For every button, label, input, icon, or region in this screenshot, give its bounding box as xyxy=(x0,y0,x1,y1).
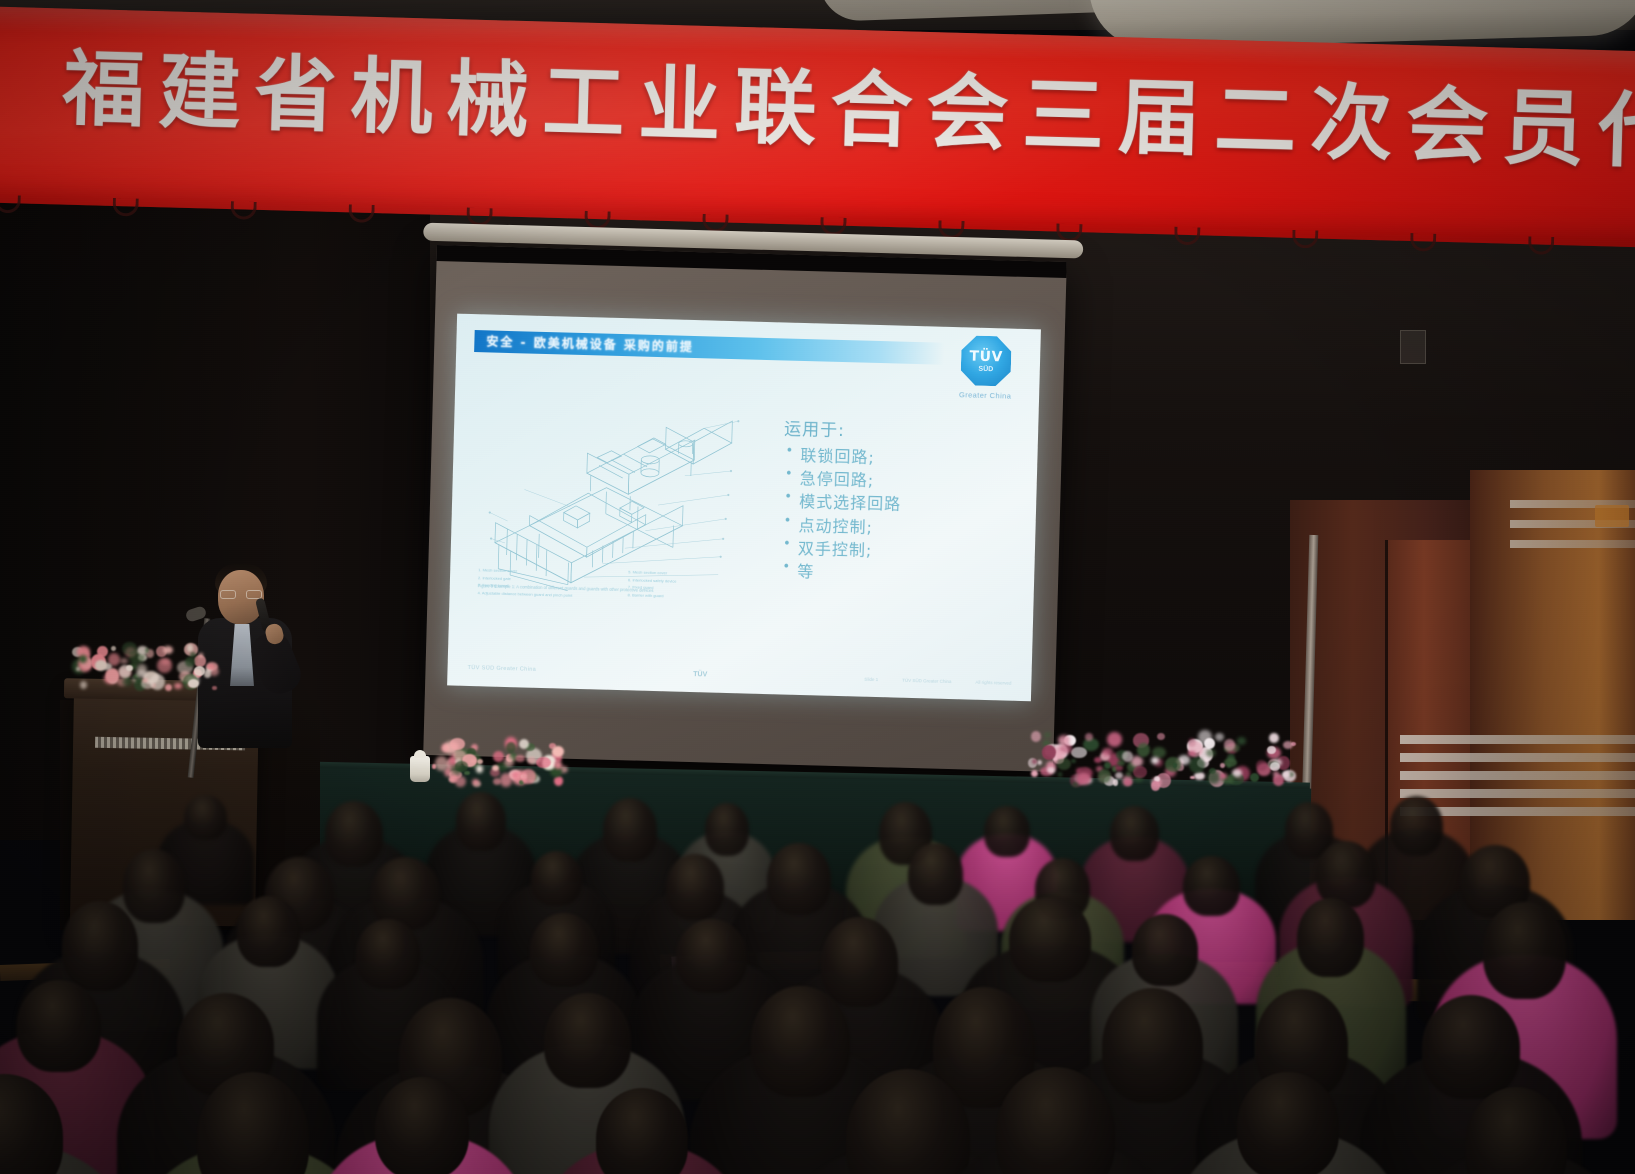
slide-footer-meta: All rights reserved xyxy=(975,679,1011,685)
flower-blossom xyxy=(1220,763,1225,768)
banner-hook xyxy=(230,201,256,220)
glasses-icon xyxy=(220,590,262,599)
banner-hook xyxy=(348,204,374,223)
flower-blossom xyxy=(1209,768,1216,774)
flower-blossom xyxy=(212,686,216,690)
audience-head xyxy=(356,919,419,988)
flower-blossom xyxy=(1031,770,1039,777)
flower-arrangement-stage-left xyxy=(428,736,568,788)
flower-blossom xyxy=(519,739,529,749)
audience-head xyxy=(1390,796,1443,857)
banner-hook xyxy=(1292,230,1318,249)
conference-banner: 福建省机械工业联合会三届二次会员代表大会 xyxy=(0,6,1635,248)
flower-blossom xyxy=(1122,751,1133,762)
audience-head xyxy=(544,993,631,1089)
projected-slide: 安全 - 欧美机械设备 采购的前提 TÜV SÜD Greater China xyxy=(447,314,1041,702)
flower-blossom xyxy=(1215,733,1223,741)
flower-blossom xyxy=(1282,771,1290,778)
flower-blossom xyxy=(1115,772,1123,779)
flower-blossom xyxy=(1157,733,1165,740)
flower-blossom xyxy=(476,765,483,772)
flower-blossom xyxy=(464,771,469,776)
flower-blossom xyxy=(1059,739,1067,746)
flower-blossom xyxy=(493,751,504,762)
slide-footer-brand: TÜV xyxy=(693,671,707,678)
conference-hall-photo: 福建省机械工业联合会三届二次会员代表大会 安全 - 欧美机械设备 采购的前提 T… xyxy=(0,0,1635,1174)
slide-footer: TÜV SÜD Greater China TÜV Slide 1 TÜV SÜ… xyxy=(447,659,1031,691)
flower-blossom xyxy=(455,776,465,787)
audience-head xyxy=(62,901,138,990)
audience-head xyxy=(1132,914,1197,986)
flower-blossom xyxy=(442,745,449,752)
audience-head xyxy=(123,849,186,923)
audience-head xyxy=(984,806,1029,857)
audience-head xyxy=(705,803,749,856)
flower-blossom xyxy=(1256,760,1267,771)
flower-blossom xyxy=(1194,772,1205,780)
audience-head xyxy=(375,1077,470,1174)
flower-blossom xyxy=(1117,760,1125,766)
banner-hook xyxy=(0,195,21,214)
flower-blossom xyxy=(79,655,87,663)
flower-blossom xyxy=(1058,772,1062,777)
flower-blossom xyxy=(111,646,117,652)
flower-blossom xyxy=(1042,745,1056,760)
flower-blossom xyxy=(1037,760,1042,765)
flower-blossom xyxy=(80,681,87,689)
slide-footer-left: TÜV SÜD Greater China xyxy=(467,665,536,673)
teacup-stage xyxy=(410,756,430,782)
flower-blossom xyxy=(1032,759,1037,764)
flower-blossom xyxy=(506,742,516,753)
audience-head xyxy=(325,801,383,866)
flower-blossom xyxy=(122,678,133,686)
flower-blossom xyxy=(1031,731,1041,742)
banner-hook xyxy=(1528,236,1554,255)
audience-head xyxy=(1422,995,1521,1100)
slide-title: 安全 - 欧美机械设备 采购的前提 xyxy=(486,332,694,355)
flower-blossom xyxy=(1224,739,1236,751)
audience-head xyxy=(603,798,657,862)
audience-head xyxy=(767,843,830,916)
flower-blossom xyxy=(187,644,194,651)
flower-blossom xyxy=(95,660,107,670)
flower-blossom xyxy=(1250,773,1259,782)
slide-bullet-block: 运用于: 联锁回路; 急停回路; 模式选择回路 点动控制; 双手控制; 等 xyxy=(780,414,1014,588)
flower-blossom xyxy=(1190,776,1194,779)
tuv-sud-logo: TÜV SÜD Greater China xyxy=(957,335,1015,400)
flower-blossom xyxy=(119,665,131,678)
flower-blossom xyxy=(1269,733,1278,743)
audience-head xyxy=(184,795,227,840)
flower-blossom xyxy=(157,658,172,673)
flower-blossom xyxy=(1131,756,1143,767)
flower-blossom xyxy=(515,755,524,763)
audience-head xyxy=(666,854,723,921)
audience-head xyxy=(237,896,300,967)
flower-blossom xyxy=(1267,746,1275,754)
flower-blossom xyxy=(504,756,515,768)
audience-head xyxy=(1237,1072,1339,1174)
slide-footer-meta: Slide 1 xyxy=(864,676,878,681)
projection-screen: 安全 - 欧美机械设备 采购的前提 TÜV SÜD Greater China xyxy=(423,245,1067,772)
flower-blossom xyxy=(1133,766,1146,778)
flower-blossom xyxy=(1126,772,1131,776)
tuv-octagon-icon: TÜV SÜD xyxy=(960,335,1011,386)
flower-blossom xyxy=(1044,732,1051,738)
flower-blossom xyxy=(120,658,128,664)
flower-blossom xyxy=(1098,769,1111,782)
flower-blossom xyxy=(142,678,148,683)
flower-blossom xyxy=(1107,732,1122,747)
audience-head xyxy=(1483,902,1566,999)
audience-seating xyxy=(0,790,1635,1174)
flower-blossom xyxy=(165,684,172,690)
audience-head xyxy=(530,913,598,987)
flower-blossom xyxy=(122,642,137,655)
flower-blossom xyxy=(1085,733,1093,740)
audience-head xyxy=(676,919,747,993)
flower-blossom xyxy=(204,670,211,677)
audience-head xyxy=(821,917,898,1007)
audience-head xyxy=(751,986,850,1096)
flower-blossom xyxy=(1071,747,1086,758)
wall-light-fixture xyxy=(1595,505,1629,527)
flower-blossom xyxy=(174,683,182,689)
flower-blossom xyxy=(527,757,536,764)
flower-blossom xyxy=(1151,757,1159,764)
flower-blossom xyxy=(554,776,563,785)
flower-blossom xyxy=(1283,741,1293,749)
flower-blossom xyxy=(1189,757,1205,773)
audience-head xyxy=(1009,897,1091,983)
slide-title-bar: 安全 - 欧美机械设备 采购的前提 xyxy=(474,330,944,365)
audience-head xyxy=(531,851,583,906)
slide-bullet-list: 联锁回路; 急停回路; 模式选择回路 点动控制; 双手控制; 等 xyxy=(780,443,1014,588)
slide-footer-right: Slide 1 TÜV SÜD Greater China All rights… xyxy=(864,676,1011,685)
flower-blossom xyxy=(185,657,195,668)
audience-head xyxy=(1102,988,1203,1103)
flower-blossom xyxy=(188,679,200,689)
flower-blossom xyxy=(199,653,203,658)
flower-blossom xyxy=(521,769,536,784)
flower-arrangement-podium xyxy=(72,640,222,692)
flower-blossom xyxy=(207,664,214,670)
slide-bullet-lead: 运用于: xyxy=(784,414,1015,445)
slide-bullet-item: 等 xyxy=(780,559,1011,588)
flower-blossom xyxy=(163,646,173,654)
flower-blossom xyxy=(97,646,108,657)
audience-head xyxy=(17,980,101,1071)
flower-blossom xyxy=(1104,762,1110,769)
audience-head xyxy=(1110,806,1159,861)
wall-notice-plate xyxy=(1400,330,1426,364)
flower-blossom xyxy=(1137,743,1150,757)
flower-blossom xyxy=(1071,759,1076,763)
banner-hook xyxy=(1410,233,1436,252)
flower-blossom xyxy=(1077,773,1091,784)
flower-blossom xyxy=(1206,749,1217,757)
banner-hook xyxy=(1174,227,1200,246)
audience-head xyxy=(1297,898,1364,978)
banner-hook xyxy=(112,198,138,217)
flower-blossom xyxy=(450,738,465,750)
audience-head xyxy=(908,843,963,905)
tuv-submark-text: SÜD xyxy=(961,365,1011,373)
flower-blossom xyxy=(1270,762,1280,771)
flower-blossom xyxy=(1057,758,1071,770)
tuv-mark-text: TÜV xyxy=(961,348,1011,365)
flower-blossom xyxy=(552,746,564,757)
flower-blossom xyxy=(1115,765,1123,771)
audience-head xyxy=(1183,856,1240,916)
flower-blossom xyxy=(500,773,513,786)
flower-blossom xyxy=(1220,773,1227,779)
flower-blossom xyxy=(1173,763,1177,768)
tuv-region-text: Greater China xyxy=(957,390,1013,401)
flower-blossom xyxy=(492,765,499,771)
slide-footer-meta: TÜV SÜD Greater China xyxy=(902,677,951,683)
flower-blossom xyxy=(477,759,483,764)
flower-blossom xyxy=(1224,758,1237,768)
flower-blossom xyxy=(1124,779,1132,785)
flower-arrangement-stage-right xyxy=(1028,728,1298,790)
diagram-legend-right: 5. Mesh section cover 6. Interlocked saf… xyxy=(628,568,677,600)
audience-head xyxy=(456,792,506,851)
